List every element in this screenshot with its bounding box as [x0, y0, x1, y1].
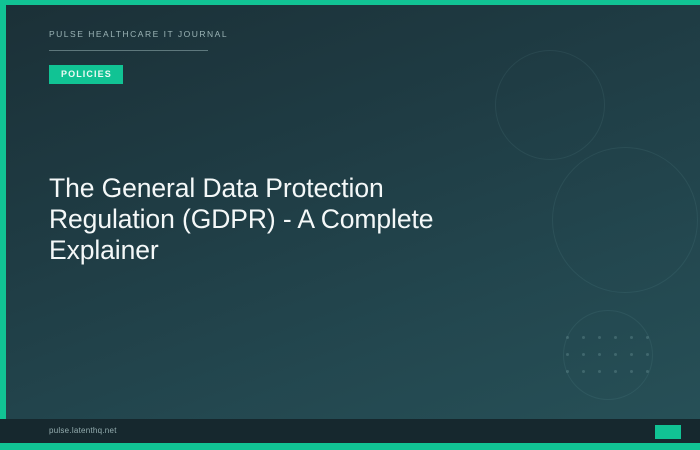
slide-title: The General Data Protection Regulation (…	[49, 173, 479, 266]
presentation-slide: PULSE HEALTHCARE IT JOURNAL POLICIES The…	[0, 0, 700, 450]
slide-header: PULSE HEALTHCARE IT JOURNAL POLICIES	[49, 29, 228, 84]
accent-bar-top	[0, 0, 700, 5]
decorative-circle-bottom	[563, 310, 653, 400]
accent-bar-left	[0, 0, 6, 419]
decorative-dot-grid	[566, 336, 662, 387]
publication-kicker: PULSE HEALTHCARE IT JOURNAL	[49, 29, 228, 39]
kicker-divider	[49, 50, 208, 51]
accent-bar-bottom	[0, 443, 700, 450]
decorative-circle-top	[495, 50, 605, 160]
footer-accent-mark	[655, 425, 681, 439]
category-badge[interactable]: POLICIES	[49, 65, 123, 84]
footer-site-url: pulse.latenthq.net	[49, 426, 117, 435]
decorative-circle-middle	[552, 147, 698, 293]
slide-footer: pulse.latenthq.net	[0, 419, 700, 443]
